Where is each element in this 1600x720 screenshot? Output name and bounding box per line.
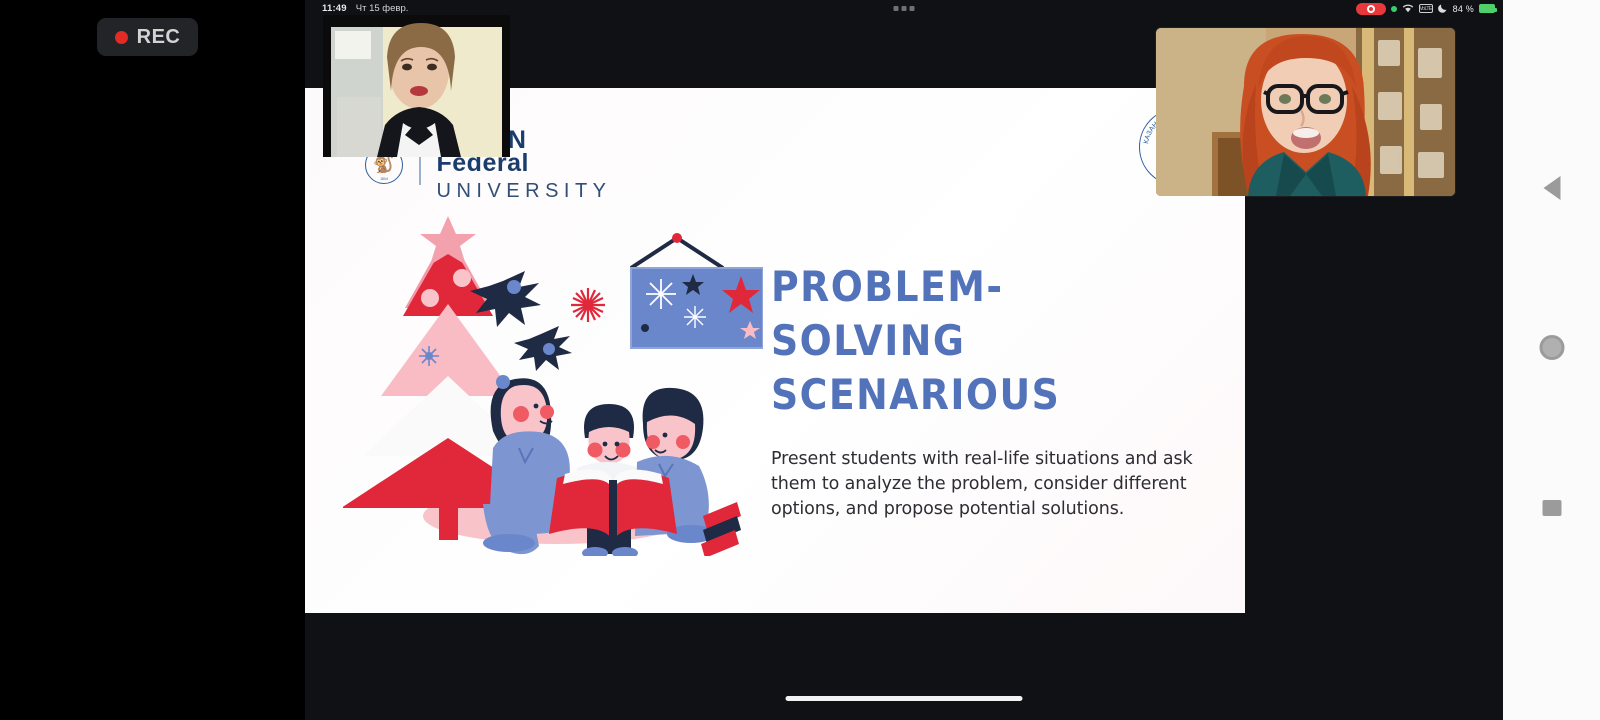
participant-video-tile-left[interactable] [323, 15, 510, 157]
punch-hole-dots-icon [894, 6, 915, 11]
recents-square-icon [1542, 500, 1561, 516]
wifi-icon [1402, 3, 1414, 15]
privacy-dot-icon [1391, 6, 1397, 12]
brand-line-university: UNIVERSITY [437, 181, 612, 201]
slide-illustration [343, 216, 763, 556]
recording-label: REC [137, 26, 181, 49]
status-date: Чт 15 февр. [356, 3, 409, 14]
volte-sim-icon: VoLTE [1419, 4, 1433, 13]
slide-body-text: Present students with real-life situatio… [771, 447, 1211, 521]
recording-indicator-badge[interactable]: REC [97, 18, 198, 56]
slide-title: Problem-solving scenarious [771, 260, 1167, 421]
presentation-slide[interactable]: 🐒 1804 KAZAN Federal UNIVERSITY КАЗАНСКИ… [305, 88, 1245, 613]
record-dot-icon [115, 31, 128, 44]
status-bar-left: 11:49 Чт 15 февр. [322, 3, 408, 14]
nav-home-button[interactable] [1539, 335, 1564, 360]
nav-back-button[interactable] [1543, 176, 1560, 200]
participant-video-tile-right[interactable] [1156, 28, 1455, 196]
screen-record-pill-icon[interactable] [1356, 3, 1386, 15]
android-navigation-bar [1503, 0, 1600, 720]
home-indicator-bar[interactable] [786, 696, 1023, 701]
battery-percent-label: 84 % [1453, 4, 1474, 14]
nav-recents-button[interactable] [1542, 500, 1561, 516]
home-circle-icon [1539, 335, 1564, 360]
battery-icon [1479, 4, 1495, 13]
slide-text-block: Problem-solving scenarious Present stude… [771, 260, 1211, 521]
status-time: 11:49 [322, 3, 347, 14]
kfu-seal-year: 1804 [380, 177, 388, 181]
status-bar-right: VoLTE 84 % [1356, 3, 1495, 15]
screen-root: REC 11:49 Чт 15 февр. [0, 0, 1600, 720]
phone-screen: 11:49 Чт 15 февр. VoLTE [305, 0, 1503, 720]
do-not-disturb-moon-icon [1438, 3, 1448, 15]
back-triangle-icon [1543, 176, 1560, 200]
